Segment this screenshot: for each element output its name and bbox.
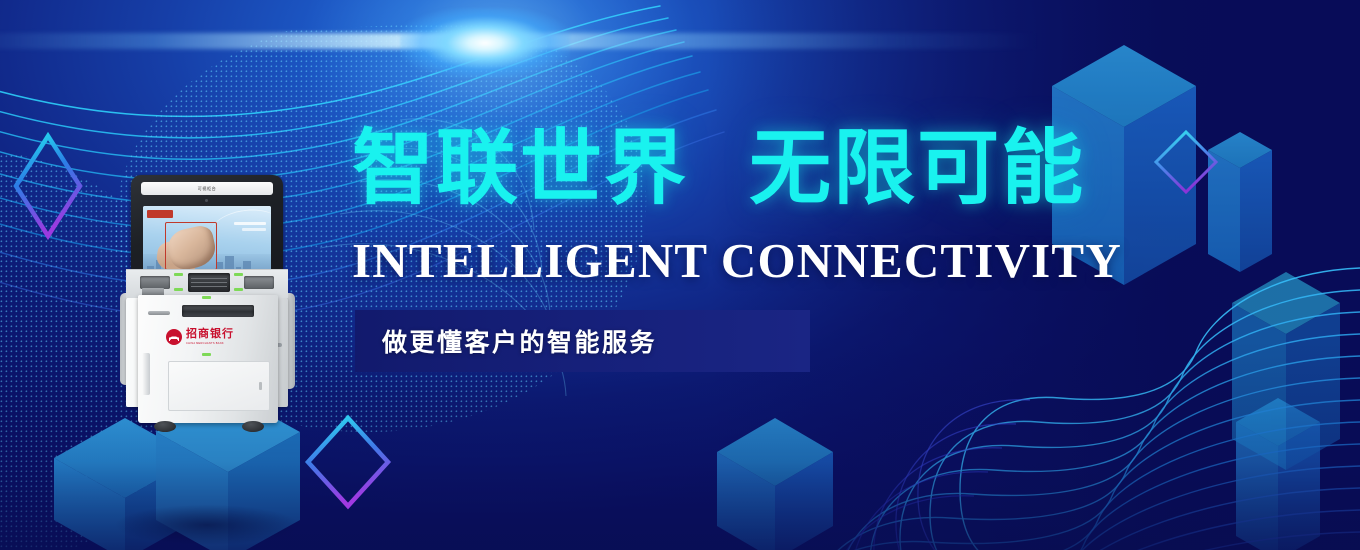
screen-caption-line xyxy=(234,222,266,225)
kiosk-foot xyxy=(154,421,176,432)
kiosk-camera-icon xyxy=(205,199,208,202)
headline-chinese: 智联世界 无限可能 xyxy=(352,128,1085,210)
mechanism-line xyxy=(191,278,227,279)
mechanism-line xyxy=(191,282,227,283)
kiosk-top-label: 可视柜台 xyxy=(198,186,217,192)
mechanism-line xyxy=(191,286,227,287)
atm-kiosk-illustration: 可视柜台 xyxy=(112,175,302,543)
banner-root: 可视柜台 xyxy=(0,0,1360,550)
tagline-bar: 做更懂客户的智能服务 xyxy=(355,310,810,372)
kiosk-led xyxy=(202,296,211,299)
tagline-text: 做更懂客户的智能服务 xyxy=(382,323,657,359)
light-burst-core xyxy=(400,8,570,78)
kiosk-top-label-strip: 可视柜台 xyxy=(141,182,273,195)
kiosk-lower-body: 招商银行 CHINA MERCHANTS BANK xyxy=(138,295,278,423)
kiosk-shadow xyxy=(116,505,298,545)
bank-logo: 招商银行 CHINA MERCHANTS BANK xyxy=(166,329,234,345)
kiosk-foot xyxy=(242,421,264,432)
kiosk-led xyxy=(174,273,183,276)
bank-name-en: CHINA MERCHANTS BANK xyxy=(186,342,234,345)
screen-brand-badge xyxy=(147,210,173,218)
bank-logo-mark-icon xyxy=(166,329,182,345)
bank-name-cn: 招商银行 xyxy=(186,329,234,340)
kiosk-receipt-printer xyxy=(244,276,274,289)
kiosk-small-slot xyxy=(148,311,170,315)
kiosk-lock-icon xyxy=(259,382,262,390)
kiosk-service-door xyxy=(168,361,270,411)
kiosk-led xyxy=(234,273,243,276)
kiosk-led xyxy=(202,353,211,356)
kiosk-cash-dispenser xyxy=(182,305,254,317)
kiosk-cash-mechanism xyxy=(188,273,230,292)
screen-focus-frame xyxy=(165,222,217,270)
headline-english: INTELLIGENT CONNECTIVITY xyxy=(352,236,1122,285)
kiosk-led xyxy=(234,288,243,291)
kiosk-side-strip xyxy=(142,353,150,395)
screen-caption-subline xyxy=(242,228,266,231)
kiosk-tray-row xyxy=(126,269,288,298)
kiosk-led xyxy=(174,288,183,291)
